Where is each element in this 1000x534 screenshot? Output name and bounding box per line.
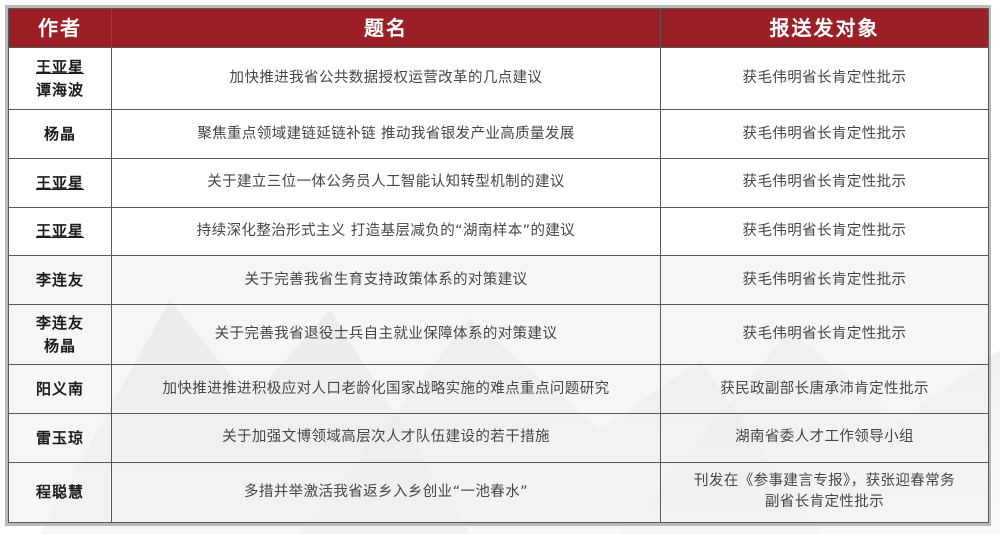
target-line: 湖南省委人才工作领导小组: [665, 427, 984, 448]
cell-title: 多措并举激活我省返乡入乡创业“一池春水”: [112, 462, 661, 522]
cell-author: 李连友: [9, 256, 112, 305]
target-line: 获毛伟明省长肯定性批示: [665, 172, 984, 193]
cell-target: 获毛伟明省长肯定性批示: [661, 256, 989, 305]
author-name: 雷玉琼: [13, 427, 107, 450]
cell-author: 杨晶: [9, 110, 112, 159]
cell-title: 加快推进推进积极应对人口老龄化国家战略实施的难点重点问题研究: [112, 365, 661, 414]
target-line: 获毛伟明省长肯定性批示: [665, 68, 984, 89]
table-body: 王亚星谭海波加快推进我省公共数据授权运营改革的几点建议获毛伟明省长肯定性批示杨晶…: [9, 48, 989, 523]
cell-target: 获民政副部长唐承沛肯定性批示: [661, 365, 989, 414]
cell-target: 获毛伟明省长肯定性批示: [661, 110, 989, 159]
cell-target: 获毛伟明省长肯定性批示: [661, 48, 989, 110]
cell-title: 聚焦重点领域建链延链补链 推动我省银发产业高质量发展: [112, 110, 661, 159]
table-header-row: 作者 题名 报送发对象: [9, 9, 989, 48]
author-name: 阳义南: [13, 378, 107, 401]
cell-target: 刊发在《参事建言专报》，获张迎春常务副省长肯定性批示: [661, 462, 989, 522]
author-name: 程聪慧: [13, 481, 107, 504]
screenshot-root: 作者 题名 报送发对象 王亚星谭海波加快推进我省公共数据授权运营改革的几点建议获…: [0, 0, 1000, 534]
target-line: 获毛伟明省长肯定性批示: [665, 221, 984, 242]
target-line: 获民政副部长唐承沛肯定性批示: [665, 379, 984, 400]
target-line: 刊发在《参事建言专报》，获张迎春常务: [665, 471, 984, 492]
author-name: 王亚星: [13, 220, 107, 243]
author-name: 李连友: [13, 269, 107, 292]
table-row: 王亚星谭海波加快推进我省公共数据授权运营改革的几点建议获毛伟明省长肯定性批示: [9, 48, 989, 110]
author-name: 谭海波: [13, 79, 107, 102]
awards-table-frame: 作者 题名 报送发对象 王亚星谭海波加快推进我省公共数据授权运营改革的几点建议获…: [5, 5, 991, 526]
awards-table: 作者 题名 报送发对象 王亚星谭海波加快推进我省公共数据授权运营改革的几点建议获…: [8, 8, 989, 523]
author-name: 杨晶: [13, 335, 107, 358]
cell-author: 阳义南: [9, 365, 112, 414]
author-name: 杨晶: [13, 123, 107, 146]
cell-target: 获毛伟明省长肯定性批示: [661, 207, 989, 256]
cell-title: 加快推进我省公共数据授权运营改革的几点建议: [112, 48, 661, 110]
table-row: 杨晶聚焦重点领域建链延链补链 推动我省银发产业高质量发展获毛伟明省长肯定性批示: [9, 110, 989, 159]
table-row: 王亚星关于建立三位一体公务员人工智能认知转型机制的建议获毛伟明省长肯定性批示: [9, 158, 989, 207]
cell-target: 湖南省委人才工作领导小组: [661, 414, 989, 463]
cell-target: 获毛伟明省长肯定性批示: [661, 305, 989, 365]
column-header-title: 题名: [112, 9, 661, 48]
table-row: 阳义南加快推进推进积极应对人口老龄化国家战略实施的难点重点问题研究获民政副部长唐…: [9, 365, 989, 414]
cell-title: 持续深化整治形式主义 打造基层减负的“湖南样本”的建议: [112, 207, 661, 256]
table-row: 雷玉琼关于加强文博领域高层次人才队伍建设的若干措施湖南省委人才工作领导小组: [9, 414, 989, 463]
table-header: 作者 题名 报送发对象: [9, 9, 989, 48]
table-row: 程聪慧多措并举激活我省返乡入乡创业“一池春水”刊发在《参事建言专报》，获张迎春常…: [9, 462, 989, 522]
cell-target: 获毛伟明省长肯定性批示: [661, 158, 989, 207]
target-line: 副省长肯定性批示: [665, 492, 984, 513]
author-name: 王亚星: [13, 172, 107, 195]
author-name: 李连友: [13, 312, 107, 335]
cell-title: 关于完善我省生育支持政策体系的对策建议: [112, 256, 661, 305]
cell-author: 雷玉琼: [9, 414, 112, 463]
column-header-target: 报送发对象: [661, 9, 989, 48]
target-line: 获毛伟明省长肯定性批示: [665, 324, 984, 345]
cell-title: 关于建立三位一体公务员人工智能认知转型机制的建议: [112, 158, 661, 207]
cell-title: 关于完善我省退役士兵自主就业保障体系的对策建议: [112, 305, 661, 365]
target-line: 获毛伟明省长肯定性批示: [665, 270, 984, 291]
cell-author: 程聪慧: [9, 462, 112, 522]
cell-author: 王亚星谭海波: [9, 48, 112, 110]
table-row: 李连友关于完善我省生育支持政策体系的对策建议获毛伟明省长肯定性批示: [9, 256, 989, 305]
target-line: 获毛伟明省长肯定性批示: [665, 124, 984, 145]
cell-title: 关于加强文博领域高层次人才队伍建设的若干措施: [112, 414, 661, 463]
table-row: 李连友杨晶关于完善我省退役士兵自主就业保障体系的对策建议获毛伟明省长肯定性批示: [9, 305, 989, 365]
cell-author: 王亚星: [9, 158, 112, 207]
author-name: 王亚星: [13, 56, 107, 79]
cell-author: 王亚星: [9, 207, 112, 256]
table-row: 王亚星持续深化整治形式主义 打造基层减负的“湖南样本”的建议获毛伟明省长肯定性批…: [9, 207, 989, 256]
column-header-author: 作者: [9, 9, 112, 48]
cell-author: 李连友杨晶: [9, 305, 112, 365]
